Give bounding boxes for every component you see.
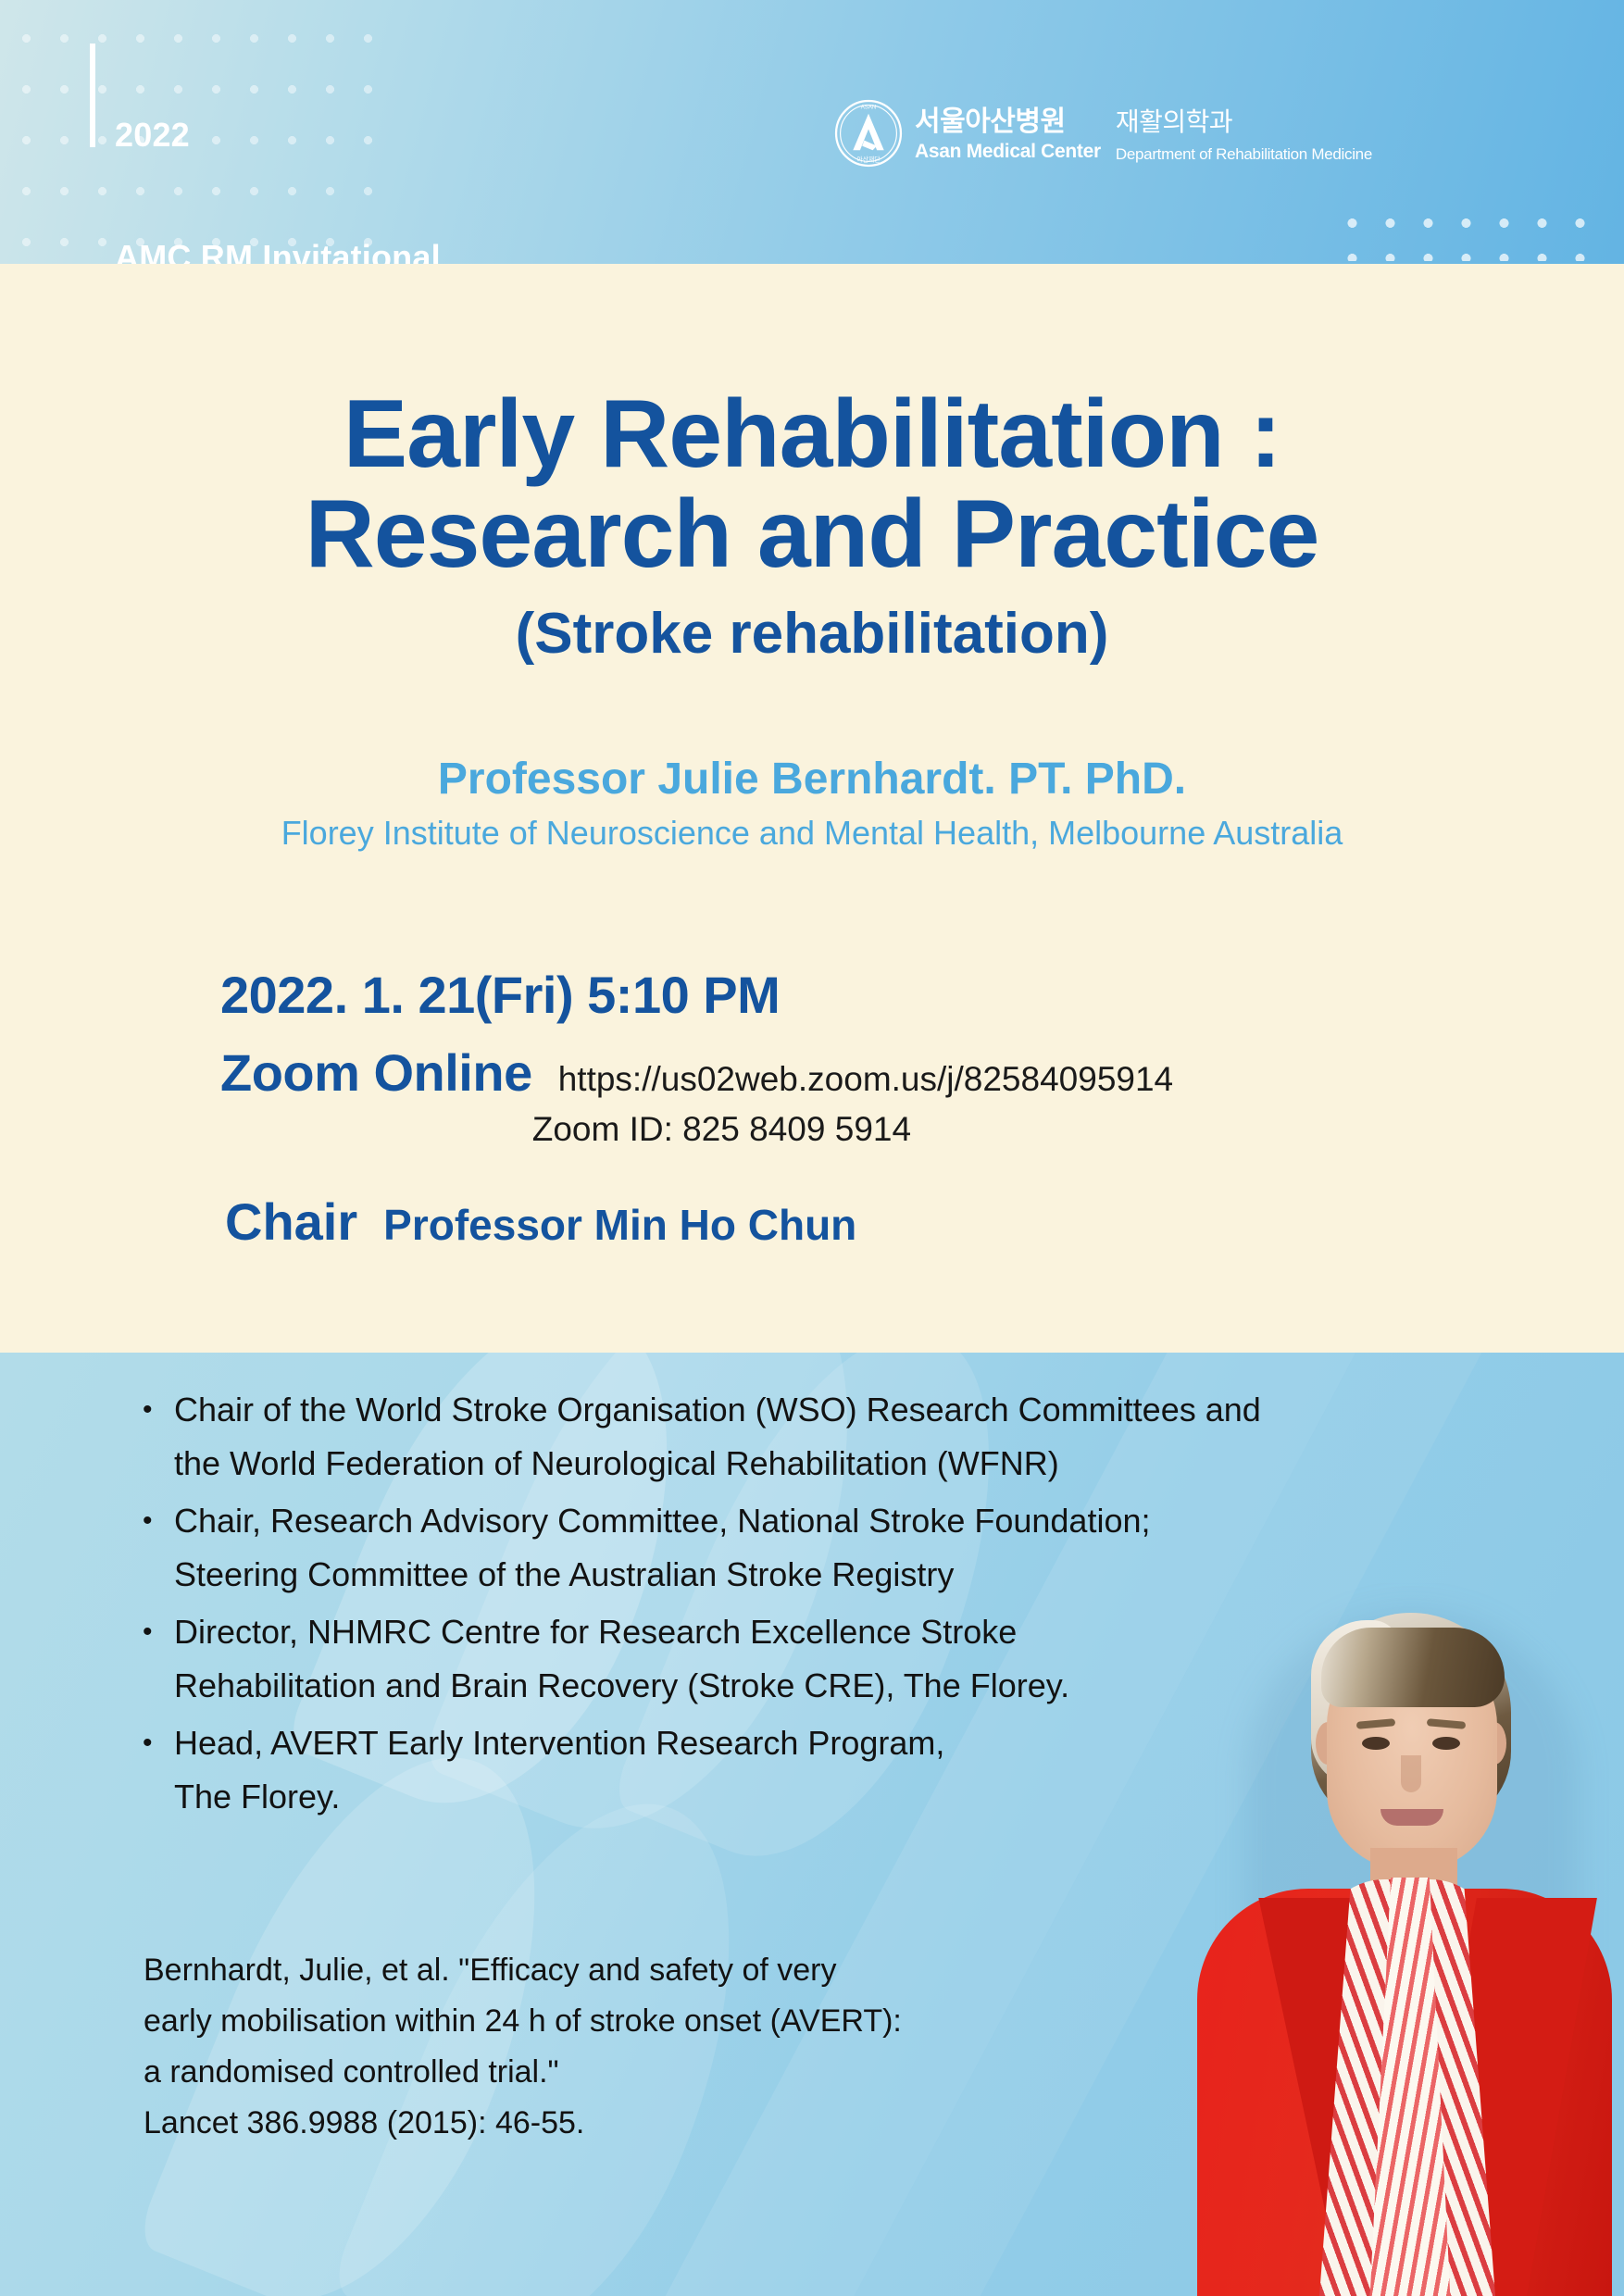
poster-header: 2022 AMC RM Invitational WEBINAR ASAN 아산… xyxy=(0,0,1624,264)
dot-pattern-right xyxy=(1333,202,1611,261)
zoom-info: https://us02web.zoom.us/j/82584095914 Zo… xyxy=(532,1055,1173,1154)
chair-name: Professor Min Ho Chun xyxy=(383,1195,856,1254)
speaker-block: Professor Julie Bernhardt. PT. PhD. Flor… xyxy=(0,753,1624,855)
lecture-title-line1: Early Rehabilitation : xyxy=(0,384,1624,484)
zoom-url[interactable]: https://us02web.zoom.us/j/82584095914 xyxy=(558,1055,1173,1104)
svg-text:아산재단: 아산재단 xyxy=(856,155,881,163)
hospital-name-ko: 서울아산병원 xyxy=(915,107,1101,137)
webinar-poster: 2022 AMC RM Invitational WEBINAR ASAN 아산… xyxy=(0,0,1624,2296)
main-panel: Early Rehabilitation : Research and Prac… xyxy=(0,264,1624,1353)
portrait-mouth xyxy=(1380,1809,1443,1826)
list-item: Chair of the World Stroke Organisation (… xyxy=(139,1383,1454,1491)
chair-row: Chair Professor Min Ho Chun xyxy=(225,1192,1461,1254)
asan-foundation-seal-icon: ASAN 아산재단 xyxy=(833,98,904,168)
speaker-portrait-photo xyxy=(1181,1583,1624,2296)
portrait-eye-left xyxy=(1362,1737,1390,1750)
event-datetime: 2022. 1. 21(Fri) 5:10 PM xyxy=(220,963,1461,1028)
department-name-ko: 재활의학과 xyxy=(1116,107,1372,137)
zoom-meeting-id: Zoom ID: 825 8409 5914 xyxy=(532,1105,1173,1154)
lecture-title-line2: Research and Practice xyxy=(0,484,1624,584)
asan-medical-center-logo: ASAN 아산재단 서울아산병원 Asan Medical Center 재활의… xyxy=(833,107,1372,168)
lecture-title-block: Early Rehabilitation : Research and Prac… xyxy=(0,384,1624,673)
department-name-en: Department of Rehabilitation Medicine xyxy=(1116,143,1372,166)
speaker-name: Professor Julie Bernhardt. PT. PhD. xyxy=(0,753,1624,806)
event-details: 2022. 1. 21(Fri) 5:10 PM Zoom Online htt… xyxy=(220,963,1461,1254)
series-name: AMC RM Invitational xyxy=(115,237,441,264)
chair-label: Chair xyxy=(225,1192,357,1252)
portrait-eye-right xyxy=(1432,1737,1460,1750)
portrait-fringe xyxy=(1321,1628,1505,1707)
series-year: 2022 xyxy=(115,115,441,156)
speaker-affiliation: Florey Institute of Neuroscience and Men… xyxy=(0,812,1624,855)
hospital-name-en: Asan Medical Center xyxy=(915,141,1101,163)
event-venue-row: Zoom Online https://us02web.zoom.us/j/82… xyxy=(220,1042,1461,1154)
portrait-nose xyxy=(1401,1755,1421,1792)
header-accent-bar xyxy=(90,44,95,147)
publication-citation: Bernhardt, Julie, et al. "Efficacy and s… xyxy=(144,1945,1162,2149)
svg-text:ASAN: ASAN xyxy=(861,104,877,110)
venue-label: Zoom Online xyxy=(220,1042,532,1104)
webinar-series-title: 2022 AMC RM Invitational WEBINAR xyxy=(115,33,441,264)
lecture-subtitle: (Stroke rehabilitation) xyxy=(0,595,1624,673)
